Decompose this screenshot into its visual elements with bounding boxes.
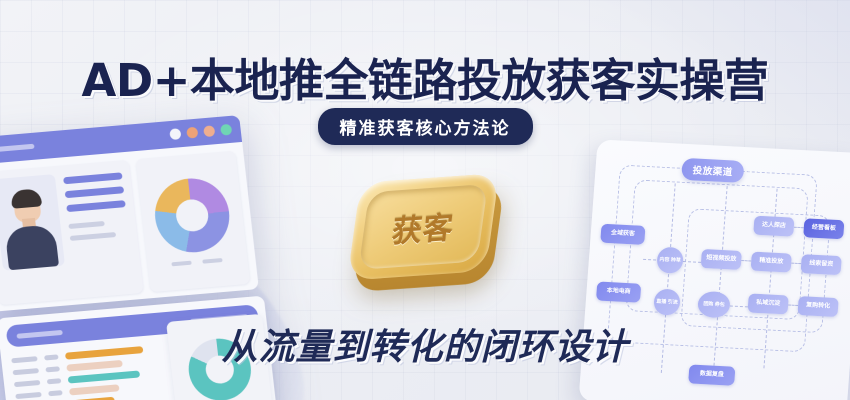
donut-chart-card xyxy=(135,151,250,293)
poster-canvas: 投放渠道 全域获客 本地电商 内容 种草 直播 引流 短视频投放 团购 券包 达… xyxy=(0,0,850,400)
flow-node-siyuchendian[interactable]: 私域沉淀 xyxy=(747,293,788,314)
methodology-badge: 精准获客核心方法论 xyxy=(318,108,533,145)
avatar-hair xyxy=(10,188,42,208)
flow-node-jingzhuntoufang[interactable]: 精准投放 xyxy=(751,252,792,273)
row-label xyxy=(14,380,40,387)
flowchart-header-pill: 投放渠道 xyxy=(681,158,745,183)
legend-item xyxy=(203,258,223,264)
avatar-torso xyxy=(4,224,59,270)
info-line xyxy=(63,172,122,184)
flow-node-darentandian[interactable]: 达人探店 xyxy=(753,216,794,237)
avatar xyxy=(0,174,65,271)
subtitle-pill-wrap: 精准获客核心方法论 xyxy=(0,108,850,145)
row-value xyxy=(48,390,63,396)
info-line-muted xyxy=(70,232,116,241)
dashboard-body xyxy=(0,142,259,312)
badge-top-face: 获客 xyxy=(347,173,499,281)
window-title-placeholder xyxy=(0,144,35,153)
badge-inner-plate: 获客 xyxy=(358,184,488,270)
row-bar xyxy=(68,370,141,383)
badge-label: 获客 xyxy=(390,202,456,251)
page-title: AD+本地推全链路投放获客实操营 xyxy=(0,44,850,109)
flow-node-quanyuhuoke[interactable]: 全域获客 xyxy=(600,224,645,245)
flow-node-xiansuoliuzi[interactable]: 线索留资 xyxy=(800,254,841,275)
info-line xyxy=(65,186,124,198)
donut-chart xyxy=(151,176,233,256)
row-bar xyxy=(69,384,120,395)
profile-info-lines xyxy=(63,168,135,290)
gold-badge: 获客 xyxy=(346,162,519,306)
tagline: 从流量到转化的闭环设计 xyxy=(0,318,850,370)
row-value xyxy=(47,378,62,384)
info-line-muted xyxy=(68,221,105,229)
flow-node-fuguozhuanhua[interactable]: 复购转化 xyxy=(797,296,838,317)
flow-connector xyxy=(791,263,801,266)
legend-item xyxy=(172,261,192,267)
donut-legend xyxy=(172,258,223,266)
flow-node-bendidianshang[interactable]: 本地电商 xyxy=(596,281,641,302)
row-label xyxy=(15,392,41,399)
flow-node-duanshipin[interactable]: 短视频投放 xyxy=(701,249,742,270)
info-line xyxy=(66,200,125,212)
flow-node-jingyingkanban[interactable]: 经营看板 xyxy=(803,218,844,239)
profile-card xyxy=(0,160,143,306)
